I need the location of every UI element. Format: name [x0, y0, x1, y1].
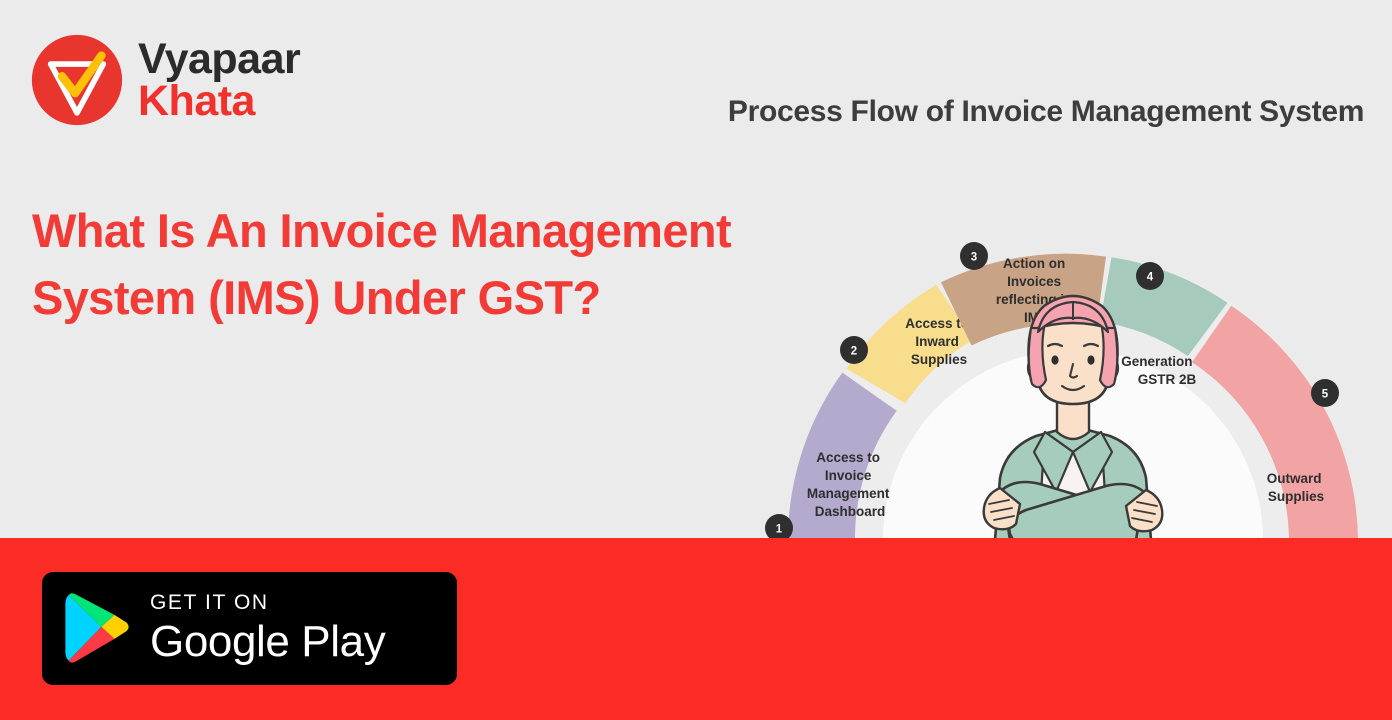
brand-word-primary: Vyapaar [138, 38, 300, 80]
segment-1-number: 1 [776, 524, 783, 536]
vyapaar-khata-logo-icon [30, 33, 124, 127]
promo-banner-page: Vyapaar Khata What Is An Invoice Managem… [0, 0, 1392, 720]
segment-4-number: 4 [1147, 272, 1154, 284]
google-play-text: GET IT ON Google Play [150, 591, 385, 666]
google-play-large-text: Google Play [150, 617, 385, 666]
google-play-small-text: GET IT ON [150, 591, 385, 615]
segment-3-number: 3 [971, 252, 977, 264]
segment-5-number: 5 [1322, 389, 1329, 401]
google-play-badge-button[interactable]: GET IT ON Google Play [42, 572, 457, 685]
google-play-triangle-icon [64, 593, 130, 665]
brand-word-secondary: Khata [138, 80, 300, 122]
bottom-cta-banner: GET IT ON Google Play [0, 538, 1392, 720]
brand-wordmark: Vyapaar Khata [138, 38, 300, 122]
process-flow-infographic: Process Flow of Invoice Management Syste… [700, 80, 1392, 540]
page-headline: What Is An Invoice Management System (IM… [32, 198, 732, 331]
brand-logo[interactable]: Vyapaar Khata [30, 33, 300, 127]
segment-2-number: 2 [851, 346, 857, 358]
segment-1[interactable]: Access to Invoice Management Dashboard 1 [765, 373, 897, 540]
process-flow-wheel: Access to Invoice Management Dashboard 1… [700, 80, 1392, 540]
